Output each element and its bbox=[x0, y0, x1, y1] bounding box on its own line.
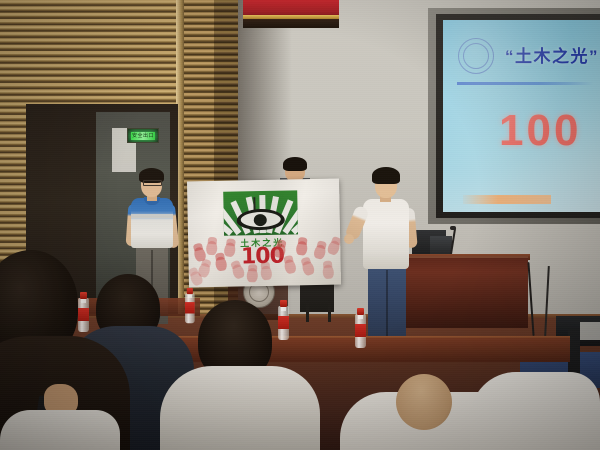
banner-cloth-shading bbox=[187, 179, 341, 288]
presenter-right-hair bbox=[372, 167, 400, 184]
projection-screen-surface: “土木之光” 100 bbox=[443, 20, 600, 212]
bottle-cap bbox=[357, 308, 364, 315]
audience-member-head bbox=[396, 374, 452, 430]
presenter-right-torso bbox=[363, 199, 409, 269]
bottle-label bbox=[278, 316, 289, 329]
audience-member-body bbox=[160, 366, 320, 450]
chair-leg-right bbox=[328, 300, 331, 322]
presenter-left-shirt-stripe bbox=[131, 214, 173, 218]
chair-leg-left bbox=[306, 300, 309, 322]
screen-glare bbox=[443, 20, 600, 212]
exit-sign: 安全出口 bbox=[127, 128, 159, 143]
person-behind-banner-hair bbox=[283, 157, 307, 171]
podium-projector bbox=[430, 236, 452, 256]
microphone-icon bbox=[450, 226, 456, 230]
bottle-label bbox=[355, 324, 366, 337]
centennial-banner: 土木之光 100 bbox=[187, 179, 341, 288]
podium bbox=[404, 256, 528, 328]
photo-scene: 安全出口 “土木之光” 100 bbox=[0, 0, 600, 450]
presenter-right-hand bbox=[344, 234, 354, 244]
equipment-paper bbox=[580, 322, 600, 340]
glasses-icon bbox=[143, 180, 162, 186]
bottle-label bbox=[78, 308, 89, 321]
audience-member-body bbox=[470, 372, 600, 450]
ceiling-shadow-strip bbox=[243, 19, 339, 28]
bottle-cap bbox=[187, 288, 193, 294]
exit-sign-text: 安全出口 bbox=[131, 132, 155, 140]
audience-member-body bbox=[0, 410, 120, 450]
presenter-right-leg-gap bbox=[386, 270, 388, 342]
bottle-label bbox=[185, 302, 195, 313]
presenter-left-torso bbox=[131, 198, 173, 248]
bottle-cap bbox=[80, 292, 87, 299]
bottle-cap bbox=[280, 300, 287, 307]
